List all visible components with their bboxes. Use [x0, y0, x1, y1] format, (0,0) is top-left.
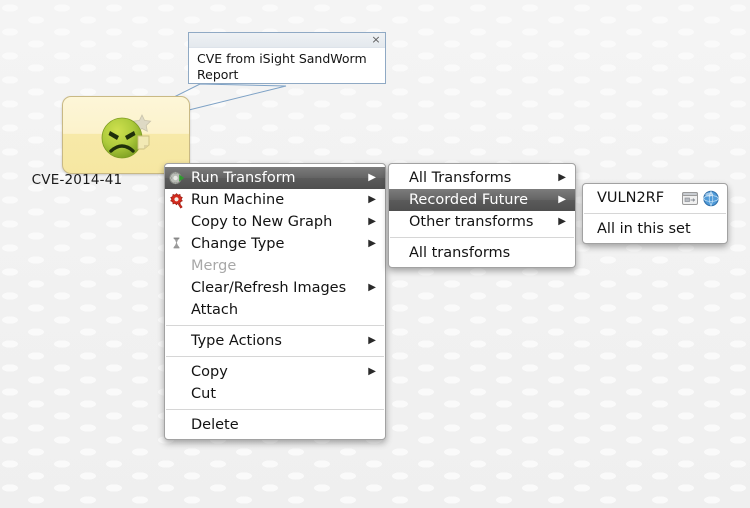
menu-item-label: Run Transform [191, 170, 296, 186]
change-type-icon [168, 236, 185, 253]
menu-item-delete[interactable]: Delete [165, 414, 385, 436]
menu-item-label: Recorded Future [409, 192, 528, 208]
note-text: CVE from iSight SandWorm Report [189, 48, 385, 83]
menu-item-copy[interactable]: Copy ▶ [165, 361, 385, 383]
note-titlebar: × [189, 33, 385, 48]
menu-item-label: All Transforms [409, 170, 511, 186]
menu-item-cut[interactable]: Cut [165, 383, 385, 405]
menu-item-label: All in this set [597, 221, 691, 237]
menu-item-label: Copy to New Graph [191, 214, 332, 230]
menu-item-run-transform[interactable]: Run Transform ▶ [165, 167, 385, 189]
menu-item-label: Run Machine [191, 192, 284, 208]
chevron-right-icon: ▶ [558, 189, 566, 211]
chevron-right-icon: ▶ [368, 330, 376, 352]
transforms-submenu[interactable]: All Transforms ▶ Recorded Future ▶ Other… [388, 163, 576, 268]
entity-node-label: CVE-2014-41 [2, 172, 152, 188]
menu-item-recorded-future[interactable]: Recorded Future ▶ [389, 189, 575, 211]
angry-face-vulnerability-icon [95, 105, 157, 167]
menu-item-label: All transforms [409, 245, 510, 261]
menu-separator [390, 237, 574, 238]
menu-item-label: Type Actions [191, 333, 282, 349]
menu-item-other-transforms[interactable]: Other transforms ▶ [389, 211, 575, 233]
run-transform-icon [168, 170, 185, 187]
menu-item-clear-refresh-images[interactable]: Clear/Refresh Images ▶ [165, 277, 385, 299]
menu-item-label: VULN2RF [597, 190, 664, 206]
menu-item-run-machine[interactable]: Run Machine ▶ [165, 189, 385, 211]
menu-item-all-transforms-upper[interactable]: All Transforms ▶ [389, 167, 575, 189]
menu-separator [166, 409, 384, 410]
menu-separator [584, 213, 726, 214]
context-menu[interactable]: Run Transform ▶ Run Machine ▶ Copy to Ne… [164, 163, 386, 440]
menu-item-label: Attach [191, 302, 238, 318]
recorded-future-submenu[interactable]: VULN2RF All in this set [582, 183, 728, 244]
menu-item-attach[interactable]: Attach [165, 299, 385, 321]
menu-item-label: Change Type [191, 236, 284, 252]
menu-item-label: Copy [191, 364, 228, 380]
menu-item-label: Merge [191, 258, 236, 274]
menu-item-label: Delete [191, 417, 239, 433]
chevron-right-icon: ▶ [368, 189, 376, 211]
menu-item-label: Clear/Refresh Images [191, 280, 346, 296]
menu-item-copy-to-new-graph[interactable]: Copy to New Graph ▶ [165, 211, 385, 233]
vuln2rf-icon-group [682, 190, 720, 207]
chevron-right-icon: ▶ [368, 167, 376, 189]
menu-separator [166, 325, 384, 326]
menu-item-all-transforms-lower[interactable]: All transforms [389, 242, 575, 264]
menu-separator [166, 356, 384, 357]
run-machine-icon [168, 192, 185, 209]
menu-item-all-in-this-set[interactable]: All in this set [583, 218, 727, 240]
chevron-right-icon: ▶ [558, 211, 566, 233]
chevron-right-icon: ▶ [368, 233, 376, 255]
close-icon[interactable]: × [370, 33, 382, 46]
chevron-right-icon: ▶ [368, 277, 376, 299]
chevron-right-icon: ▶ [368, 211, 376, 233]
note-callout-bubble[interactable]: × CVE from iSight SandWorm Report [188, 32, 386, 84]
menu-item-merge: Merge [165, 255, 385, 277]
chevron-right-icon: ▶ [368, 361, 376, 383]
menu-item-label: Other transforms [409, 214, 533, 230]
menu-item-label: Cut [191, 386, 216, 402]
menu-item-vuln2rf[interactable]: VULN2RF [583, 187, 727, 209]
menu-item-change-type[interactable]: Change Type ▶ [165, 233, 385, 255]
chevron-right-icon: ▶ [558, 167, 566, 189]
menu-item-type-actions[interactable]: Type Actions ▶ [165, 330, 385, 352]
